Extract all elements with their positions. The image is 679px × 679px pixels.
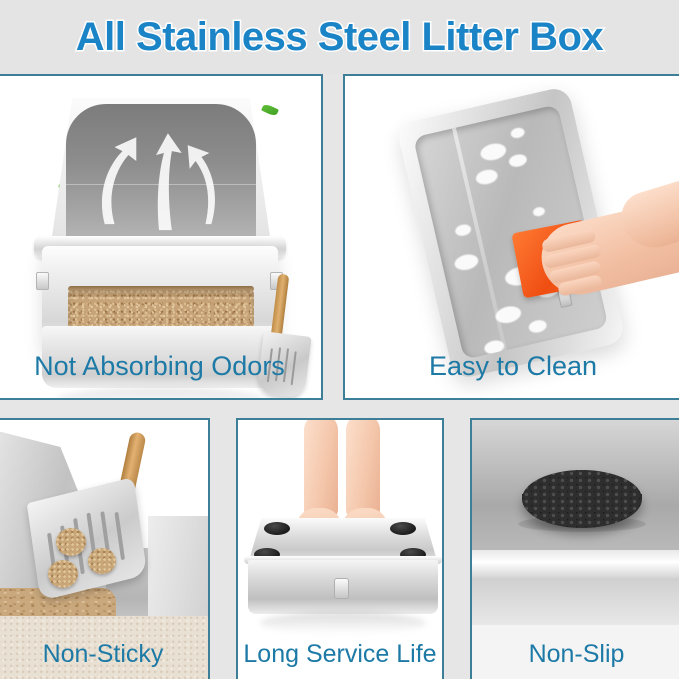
title-bar: All Stainless Steel Litter Box	[0, 0, 679, 74]
interior-seam-line	[66, 184, 256, 185]
feature-panel-non-sticky[interactable]: Non-Sticky	[0, 418, 210, 679]
soap-sud	[479, 141, 508, 162]
easy-to-clean-scene	[345, 76, 679, 398]
litter-box-interior	[66, 104, 256, 252]
soap-sud	[528, 319, 548, 335]
page-title: All Stainless Steel Litter Box	[76, 15, 603, 60]
rubber-foot	[390, 522, 416, 535]
scoop-slot	[114, 512, 125, 561]
litter-clump	[56, 528, 86, 556]
leg-left	[304, 418, 338, 518]
feature-panel-non-slip[interactable]: Non-Slip	[470, 418, 679, 679]
steel-ridge-highlight	[472, 550, 679, 580]
feature-panel-not-absorbing-odors[interactable]: Not Absorbing Odors	[0, 74, 323, 400]
panel-label-non-sticky: Non-Sticky	[0, 640, 208, 669]
soap-sud	[510, 126, 526, 139]
soap-sud	[454, 223, 472, 237]
box-latch	[334, 578, 349, 599]
panel-label-easy-to-clean: Easy to Clean	[345, 351, 679, 382]
product-infographic: All Stainless Steel Litter Box	[0, 0, 679, 679]
leg-right	[346, 418, 380, 518]
rubber-foot	[264, 522, 290, 535]
soap-sud	[532, 206, 546, 217]
surface-reflection	[260, 612, 426, 634]
soap-sud	[474, 168, 499, 187]
green-leaf-icon	[261, 103, 279, 117]
feature-panel-long-service-life[interactable]: Long Service Life	[236, 418, 444, 679]
soap-sud	[508, 153, 528, 169]
litter-clump	[48, 560, 78, 588]
litter-clump	[88, 548, 116, 574]
litter-box-odor-scene	[0, 76, 321, 398]
rubber-pad	[522, 470, 642, 528]
side-clip-left	[36, 272, 49, 290]
panel-label-non-slip: Non-Slip	[472, 640, 679, 669]
panel-label-not-absorbing-odors: Not Absorbing Odors	[0, 351, 321, 382]
soap-sud	[453, 252, 480, 272]
panel-label-long-service-life: Long Service Life	[238, 640, 442, 669]
surface-reflection	[56, 388, 264, 400]
feature-panel-easy-to-clean[interactable]: Easy to Clean	[343, 74, 679, 400]
